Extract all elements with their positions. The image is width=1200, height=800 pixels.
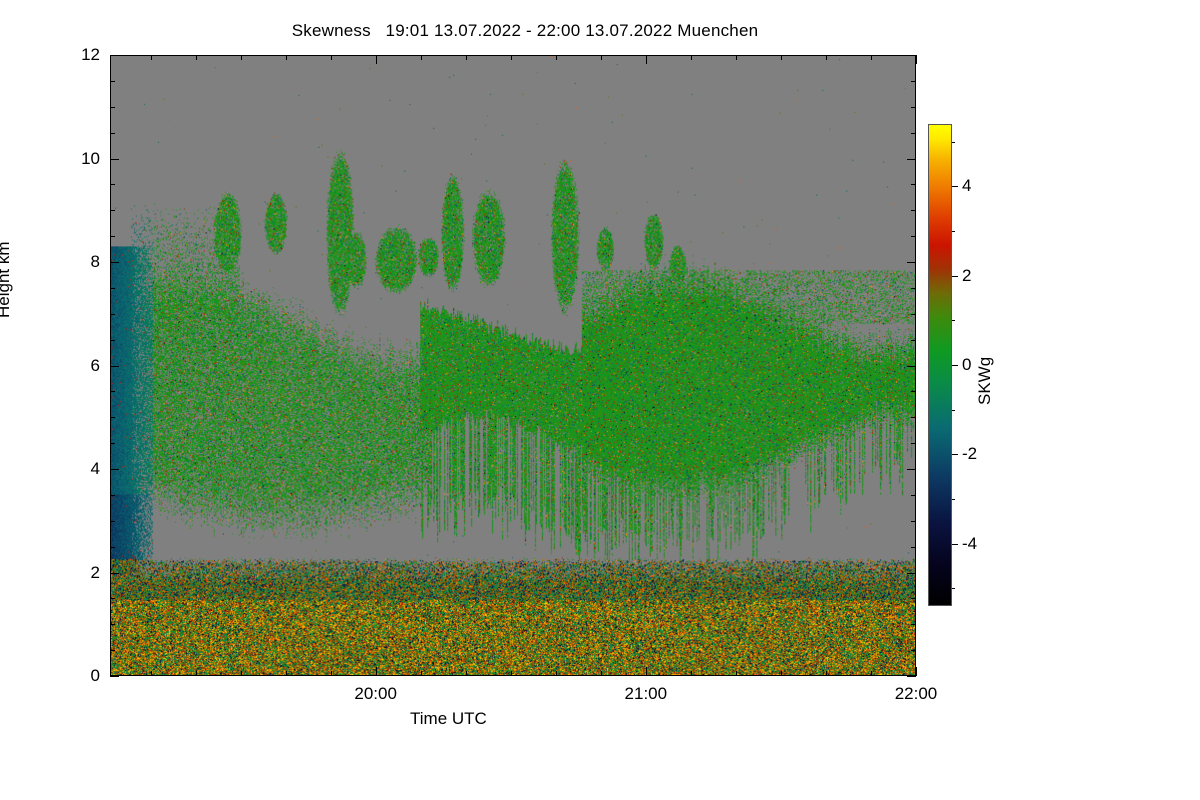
- x-tick-minor-top: [871, 55, 872, 60]
- x-tick-minor-top: [286, 55, 287, 60]
- y-tick-major: [110, 159, 119, 160]
- x-tick-minor: [691, 671, 692, 676]
- y-tick-minor-right: [911, 236, 916, 237]
- y-tick-minor: [110, 521, 115, 522]
- x-tick-minor-top: [556, 55, 557, 60]
- y-tick-major: [110, 469, 119, 470]
- x-tick-minor: [601, 671, 602, 676]
- y-tick-minor: [110, 495, 115, 496]
- x-tick-major-top: [916, 55, 917, 64]
- y-tick-minor-right: [911, 210, 916, 211]
- x-tick-minor: [556, 671, 557, 676]
- y-tick-label: 2: [54, 564, 100, 581]
- colorbar-tick-label: 2: [962, 267, 971, 284]
- x-tick-minor-top: [331, 55, 332, 60]
- y-tick-minor-right: [911, 650, 916, 651]
- y-tick-minor: [110, 624, 115, 625]
- y-tick-label: 0: [54, 667, 100, 684]
- colorbar-tick-minor: [952, 320, 955, 321]
- y-tick-minor-right: [911, 133, 916, 134]
- x-tick-major-top: [376, 55, 377, 64]
- x-tick-major: [916, 667, 917, 676]
- y-tick-major-right: [907, 262, 916, 263]
- colorbar-tick-minor: [952, 499, 955, 500]
- y-tick-major-right: [907, 55, 916, 56]
- x-tick-minor: [151, 671, 152, 676]
- skewness-time-height-plot: Skewness 19:01 13.07.2022 - 22:00 13.07.…: [0, 0, 1200, 800]
- y-tick-label: 6: [54, 357, 100, 374]
- x-tick-minor-top: [466, 55, 467, 60]
- y-tick-minor: [110, 443, 115, 444]
- x-tick-minor-top: [601, 55, 602, 60]
- x-tick-minor: [736, 671, 737, 676]
- colorbar: [928, 124, 952, 606]
- y-tick-minor-right: [911, 547, 916, 548]
- x-tick-minor-top: [781, 55, 782, 60]
- colorbar-tick-label: 4: [962, 177, 971, 194]
- y-tick-minor-right: [911, 624, 916, 625]
- x-tick-minor-top: [151, 55, 152, 60]
- y-tick-major: [110, 676, 119, 677]
- x-tick-major: [376, 667, 377, 676]
- y-tick-minor: [110, 547, 115, 548]
- y-tick-minor: [110, 391, 115, 392]
- colorbar-title: SKWg: [975, 357, 995, 405]
- y-tick-minor: [110, 314, 115, 315]
- heatmap-canvas: [111, 56, 915, 675]
- y-tick-minor-right: [911, 598, 916, 599]
- y-axis-title: Height km: [0, 241, 14, 318]
- colorbar-tick-minor: [952, 142, 955, 143]
- y-tick-minor-right: [911, 521, 916, 522]
- y-tick-minor-right: [911, 184, 916, 185]
- colorbar-tick-label: -2: [962, 445, 977, 462]
- y-tick-major-right: [907, 159, 916, 160]
- y-tick-minor: [110, 598, 115, 599]
- colorbar-tick-label: -4: [962, 535, 977, 552]
- colorbar-tick: [952, 454, 958, 455]
- y-tick-major: [110, 573, 119, 574]
- plot-area: [110, 55, 916, 676]
- y-tick-minor-right: [911, 443, 916, 444]
- colorbar-tick: [952, 365, 958, 366]
- x-tick-major-top: [646, 55, 647, 64]
- colorbar-tick: [952, 276, 958, 277]
- x-tick-minor-top: [421, 55, 422, 60]
- x-tick-minor: [511, 671, 512, 676]
- y-tick-minor-right: [911, 340, 916, 341]
- x-tick-minor-top: [511, 55, 512, 60]
- x-tick-minor-top: [196, 55, 197, 60]
- colorbar-tick-label: 0: [962, 356, 971, 373]
- y-tick-label: 12: [54, 46, 100, 63]
- y-tick-minor: [110, 288, 115, 289]
- x-tick-minor: [826, 671, 827, 676]
- x-tick-minor: [421, 671, 422, 676]
- x-tick-label: 22:00: [871, 685, 961, 702]
- y-tick-minor-right: [911, 288, 916, 289]
- x-tick-minor-top: [826, 55, 827, 60]
- page-title: Skewness 19:01 13.07.2022 - 22:00 13.07.…: [0, 21, 1050, 41]
- y-tick-minor: [110, 417, 115, 418]
- x-tick-minor: [241, 671, 242, 676]
- y-tick-major: [110, 262, 119, 263]
- y-tick-major-right: [907, 573, 916, 574]
- y-tick-major-right: [907, 469, 916, 470]
- y-tick-minor: [110, 650, 115, 651]
- y-tick-minor: [110, 133, 115, 134]
- x-tick-minor: [286, 671, 287, 676]
- y-tick-minor-right: [911, 391, 916, 392]
- y-tick-minor: [110, 107, 115, 108]
- y-tick-major-right: [907, 366, 916, 367]
- y-tick-label: 10: [54, 150, 100, 167]
- y-tick-minor-right: [911, 107, 916, 108]
- x-tick-label: 21:00: [601, 685, 691, 702]
- x-tick-minor: [466, 671, 467, 676]
- x-tick-label: 20:00: [331, 685, 421, 702]
- x-tick-minor-top: [241, 55, 242, 60]
- y-tick-label: 8: [54, 253, 100, 270]
- y-tick-minor-right: [911, 314, 916, 315]
- colorbar-tick-minor: [952, 410, 955, 411]
- colorbar-tick: [952, 544, 958, 545]
- y-tick-minor-right: [911, 495, 916, 496]
- y-tick-major-right: [907, 676, 916, 677]
- y-tick-major: [110, 55, 119, 56]
- x-tick-minor: [196, 671, 197, 676]
- x-tick-minor: [781, 671, 782, 676]
- x-tick-minor: [331, 671, 332, 676]
- y-tick-minor: [110, 210, 115, 211]
- y-tick-minor: [110, 184, 115, 185]
- x-tick-minor-top: [691, 55, 692, 60]
- x-tick-minor: [871, 671, 872, 676]
- colorbar-tick: [952, 186, 958, 187]
- x-axis-title: Time UTC: [410, 709, 487, 729]
- colorbar-gradient: [928, 124, 952, 606]
- y-tick-minor: [110, 340, 115, 341]
- y-tick-minor: [110, 81, 115, 82]
- x-tick-major: [646, 667, 647, 676]
- y-tick-minor-right: [911, 81, 916, 82]
- colorbar-tick-minor: [952, 231, 955, 232]
- y-tick-label: 4: [54, 460, 100, 477]
- x-tick-minor-top: [736, 55, 737, 60]
- y-tick-minor-right: [911, 417, 916, 418]
- y-tick-major: [110, 366, 119, 367]
- colorbar-tick-minor: [952, 588, 955, 589]
- y-tick-minor: [110, 236, 115, 237]
